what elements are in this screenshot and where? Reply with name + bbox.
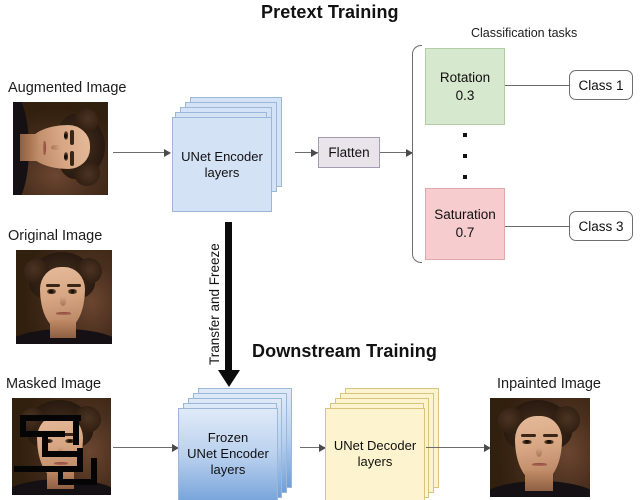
augmented-image-caption: Augmented Image — [8, 80, 127, 96]
original-image-thumbnail — [16, 250, 112, 344]
transfer-arrow-shaft — [225, 222, 232, 374]
mask-scribble — [73, 415, 79, 444]
pretext-unet-encoder-stack: UNet Encoder layers — [172, 97, 294, 212]
mask-scribble — [14, 466, 83, 472]
flatten-box[interactable]: Flatten — [318, 137, 380, 168]
class-box-1[interactable]: Class 1 — [569, 70, 633, 100]
task-name-rotation: Rotation — [440, 69, 490, 87]
task-box-saturation[interactable]: Saturation 0.7 — [425, 188, 505, 260]
task-value-saturation: 0.7 — [456, 224, 475, 242]
inpainted-image-thumbnail — [490, 398, 590, 497]
ellipsis-dot — [463, 154, 467, 158]
task-box-rotation[interactable]: Rotation 0.3 — [425, 48, 505, 125]
masked-image-caption: Masked Image — [6, 376, 101, 392]
frozen-unet-encoder-stack: Frozen UNet Encoder layers — [178, 388, 302, 500]
original-image-caption: Original Image — [8, 228, 102, 244]
mask-scribble — [91, 458, 97, 483]
connector-rotation-to-class1 — [505, 85, 570, 86]
class-label-1: Class 1 — [578, 78, 623, 93]
arrow-down-icon — [218, 370, 240, 387]
flatten-label: Flatten — [328, 145, 369, 160]
mask-scribble — [20, 415, 81, 421]
class-box-3[interactable]: Class 3 — [569, 211, 633, 241]
class-label-3: Class 3 — [578, 219, 623, 234]
task-value-rotation: 0.3 — [456, 87, 475, 105]
connector-saturation-to-class3 — [505, 226, 570, 227]
inpainted-image-caption: Inpainted Image — [497, 376, 601, 392]
decoder-layer-card — [325, 408, 425, 500]
downstream-training-title: Downstream Training — [252, 341, 437, 362]
arrow-right-icon — [311, 149, 318, 157]
pretext-training-title: Pretext Training — [261, 2, 399, 23]
ellipsis-dot — [463, 133, 467, 137]
augmented-image-thumbnail — [13, 102, 108, 195]
diagram-canvas: Pretext Training Augmented Image — [0, 0, 640, 500]
unet-decoder-stack: UNet Decoder layers — [325, 388, 449, 500]
task-name-saturation: Saturation — [434, 206, 496, 224]
ellipsis-dot — [463, 175, 467, 179]
frozen-encoder-layer-card — [178, 408, 278, 500]
transfer-and-freeze-label: Transfer and Freeze — [207, 243, 222, 365]
arrow-augmented-to-encoder — [113, 152, 165, 153]
arrow-masked-to-frozen-encoder — [113, 447, 175, 448]
encoder-layer-card — [172, 117, 272, 212]
classification-tasks-header: Classification tasks — [471, 26, 577, 40]
masked-image-thumbnail — [12, 398, 111, 495]
arrow-right-icon — [164, 149, 171, 157]
arrow-decoder-to-inpainted — [426, 447, 488, 448]
bracket-icon — [412, 45, 422, 263]
